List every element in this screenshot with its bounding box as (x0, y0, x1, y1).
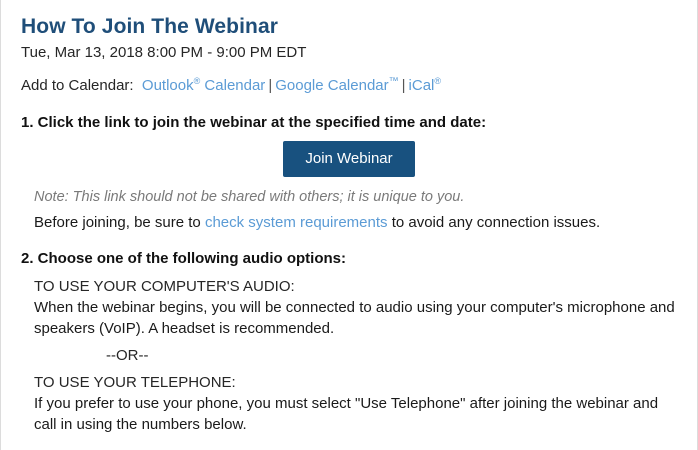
before-joining-prefix: Before joining, be sure to (34, 214, 205, 231)
outlook-link-text-suffix: Calendar (200, 77, 265, 94)
outlook-link-text: Outlook (142, 77, 194, 94)
ical-link-text: iCal (409, 77, 435, 94)
add-to-calendar-label: Add to Calendar: (21, 77, 134, 94)
or-divider: --OR-- (34, 345, 677, 366)
google-trademark-icon: ™ (389, 76, 399, 87)
telephone-body: If you prefer to use your phone, you mus… (34, 393, 677, 435)
computer-audio-body: When the webinar begins, you will be con… (34, 297, 677, 339)
link-privacy-note: Note: This link should not be shared wit… (34, 186, 677, 208)
calendar-separator-2: | (399, 77, 409, 94)
join-webinar-button[interactable]: Join Webinar (283, 141, 414, 177)
step-1-heading: 1. Click the link to join the webinar at… (21, 112, 677, 134)
calendar-separator-1: | (265, 77, 275, 94)
audio-options-block: TO USE YOUR COMPUTER'S AUDIO: When the w… (34, 276, 677, 435)
join-button-row: Join Webinar (21, 141, 677, 177)
add-to-calendar-row: Add to Calendar: Outlook® Calendar|Googl… (21, 74, 677, 98)
event-datetime: Tue, Mar 13, 2018 8:00 PM - 9:00 PM EDT (21, 41, 677, 65)
ical-calendar-link[interactable]: iCal® (409, 77, 441, 94)
before-joining-line: Before joining, be sure to check system … (34, 211, 677, 234)
before-joining-suffix: to avoid any connection issues. (388, 214, 601, 231)
ical-registered-icon: ® (434, 76, 441, 86)
google-link-text: Google Calendar (275, 77, 388, 94)
outlook-calendar-link[interactable]: Outlook® Calendar (142, 77, 265, 94)
computer-audio-heading: TO USE YOUR COMPUTER'S AUDIO: (34, 276, 677, 297)
google-calendar-link[interactable]: Google Calendar™ (275, 77, 398, 94)
page-title: How To Join The Webinar (21, 13, 677, 40)
step-2-heading: 2. Choose one of the following audio opt… (21, 248, 677, 270)
content-area: How To Join The Webinar Tue, Mar 13, 201… (1, 0, 697, 435)
webinar-instructions-page: How To Join The Webinar Tue, Mar 13, 201… (0, 0, 698, 450)
check-system-requirements-link[interactable]: check system requirements (205, 214, 388, 231)
telephone-heading: TO USE YOUR TELEPHONE: (34, 372, 677, 393)
